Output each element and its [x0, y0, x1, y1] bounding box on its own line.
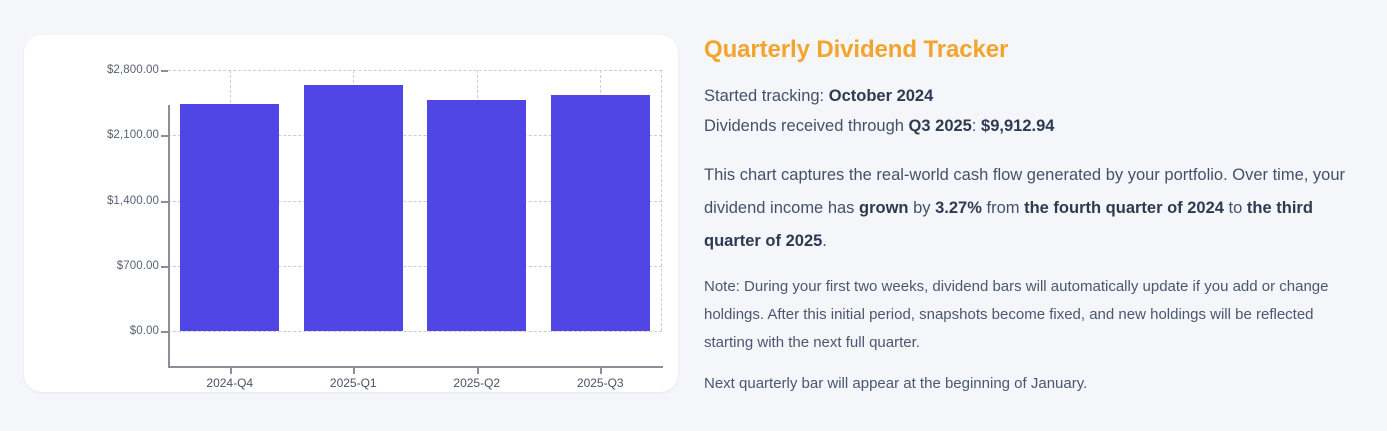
dividends-received-separator: :	[972, 117, 981, 135]
y-axis-tick	[161, 70, 168, 72]
y-axis-tick-label: $0.00	[130, 325, 159, 337]
y-axis-tick	[161, 135, 168, 137]
y-axis-labels: $0.00$700.00$1,400.00$2,100.00$2,800.00	[24, 35, 159, 392]
y-axis-tick-label: $1,400.00	[107, 195, 159, 207]
gridline-horizontal	[168, 331, 662, 332]
y-axis-tick-label: $700.00	[117, 260, 159, 272]
summary-text-3: from	[982, 199, 1024, 217]
info-panel: Quarterly Dividend Tracker Started track…	[704, 36, 1364, 398]
x-axis-tick	[477, 366, 479, 374]
summary-grown-emphasis: grown	[859, 199, 909, 217]
y-axis-tick	[161, 201, 168, 203]
summary-growth-percent: 3.27%	[935, 199, 982, 217]
y-axis-tick-label: $2,100.00	[107, 129, 159, 141]
page-title: Quarterly Dividend Tracker	[704, 36, 1364, 64]
dividends-received-label: Dividends received through	[704, 117, 909, 135]
gridline-vertical	[661, 70, 662, 331]
started-tracking-line: Started tracking: October 2024	[704, 81, 1364, 111]
chart-card: $0.00$700.00$1,400.00$2,100.00$2,800.00 …	[24, 35, 678, 392]
x-axis-tick	[600, 366, 602, 374]
bar-2025-Q1[interactable]	[304, 85, 403, 331]
y-axis-line	[168, 105, 170, 367]
y-axis-tick	[161, 266, 168, 268]
summary-text-4: to	[1224, 199, 1247, 217]
y-axis-tick	[161, 331, 168, 333]
x-axis-tick-label: 2025-Q2	[453, 376, 500, 390]
bar-chart: $0.00$700.00$1,400.00$2,100.00$2,800.00 …	[24, 35, 678, 392]
summary-start-quarter: the fourth quarter of 2024	[1024, 199, 1224, 217]
dividends-received-line: Dividends received through Q3 2025: $9,9…	[704, 111, 1364, 141]
summary-text-5: .	[822, 232, 827, 250]
bar-2024-Q4[interactable]	[180, 104, 279, 331]
x-axis-tick-label: 2025-Q3	[577, 376, 624, 390]
dividend-tracker-page: $0.00$700.00$1,400.00$2,100.00$2,800.00 …	[0, 0, 1387, 431]
x-axis-line	[168, 366, 663, 368]
bar-2025-Q3[interactable]	[551, 95, 650, 331]
x-axis-tick-label: 2025-Q1	[330, 376, 377, 390]
x-axis-tick	[230, 366, 232, 374]
next-bar-paragraph: Next quarterly bar will appear at the be…	[704, 370, 1364, 398]
started-tracking-label: Started tracking:	[704, 87, 829, 105]
summary-paragraph: This chart captures the real-world cash …	[704, 159, 1364, 258]
gridline-horizontal	[168, 70, 662, 71]
dividends-received-period: Q3 2025	[909, 117, 972, 135]
bar-2025-Q2[interactable]	[427, 100, 526, 331]
x-axis-tick	[353, 366, 355, 374]
note-paragraph: Note: During your first two weeks, divid…	[704, 273, 1364, 357]
y-axis-tick-label: $2,800.00	[107, 64, 159, 76]
x-axis-tick-label: 2024-Q4	[206, 376, 253, 390]
summary-text-2: by	[909, 199, 936, 217]
started-tracking-value: October 2024	[829, 87, 934, 105]
plot-area	[168, 70, 662, 331]
dividends-received-total: $9,912.94	[981, 117, 1054, 135]
